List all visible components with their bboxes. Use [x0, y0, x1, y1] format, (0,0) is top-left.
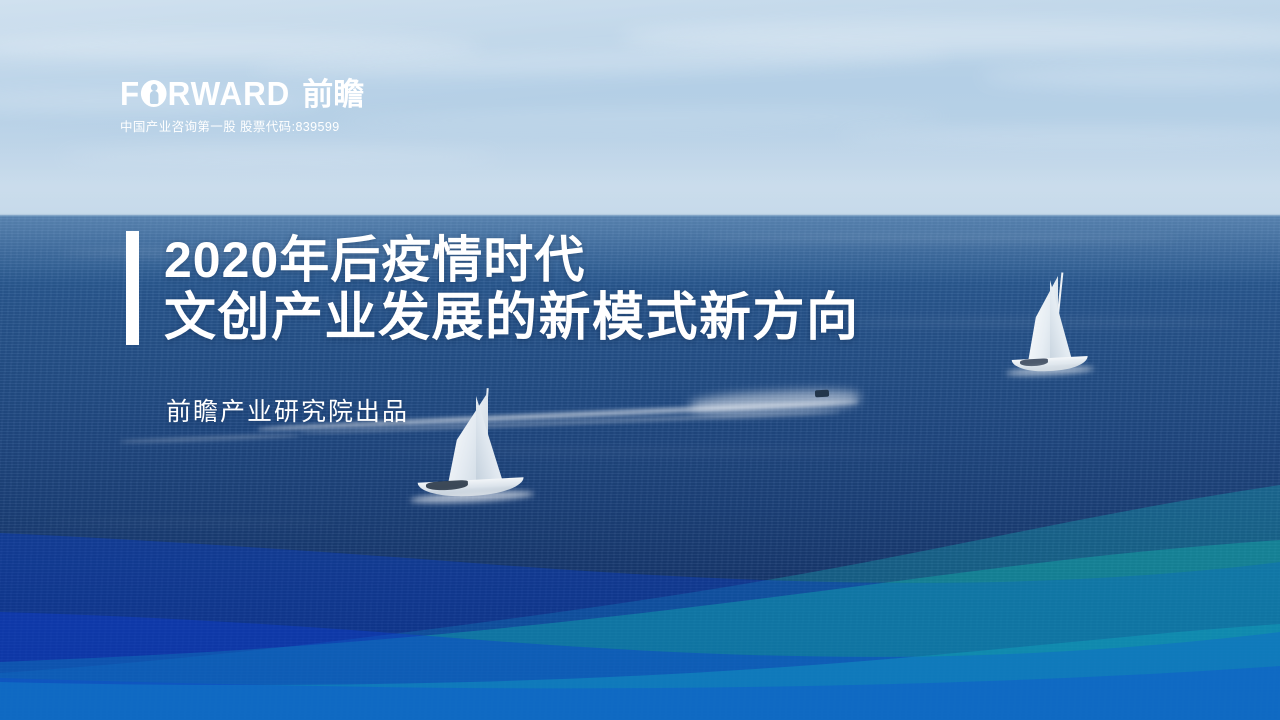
- page-title: 2020年后疫情时代 文创产业发展的新模式新方向: [164, 231, 860, 347]
- horizon-line: [0, 213, 1280, 217]
- logo-chinese-text: 前瞻: [302, 79, 364, 110]
- slide-cover: F RWARD 前瞻 中国产业咨询第一股 股票代码:839599 2020年后疫…: [0, 0, 1280, 720]
- logo-compass-o-icon: [141, 80, 167, 107]
- water-glint: [40, 520, 340, 524]
- title-line-2: 文创产业发展的新模式新方向: [164, 289, 860, 347]
- sailboat-right-icon: [1004, 268, 1094, 388]
- title-line-1: 2020年后疫情时代: [164, 231, 860, 289]
- logo-letter-f: F: [120, 77, 140, 110]
- logo-wordmark: F RWARD 前瞻: [120, 78, 364, 110]
- logo-tagline: 中国产业咨询第一股 股票代码:839599: [120, 116, 364, 135]
- cloud-icon: [980, 66, 1280, 88]
- logo-letters-rward: RWARD: [168, 77, 291, 110]
- sailboat-left-icon: [404, 386, 534, 516]
- cloud-icon: [620, 20, 1280, 54]
- subtitle-text: 前瞻产业研究院出品: [166, 392, 409, 428]
- speedboat-icon: [815, 390, 829, 398]
- accent-bar: [126, 231, 139, 345]
- headline-block: 2020年后疫情时代 文创产业发展的新模式新方向: [126, 231, 860, 347]
- logo-latin-text: F RWARD: [120, 77, 290, 110]
- cloud-icon: [0, 34, 480, 60]
- brand-logo[interactable]: F RWARD 前瞻 中国产业咨询第一股 股票代码:839599: [120, 78, 364, 135]
